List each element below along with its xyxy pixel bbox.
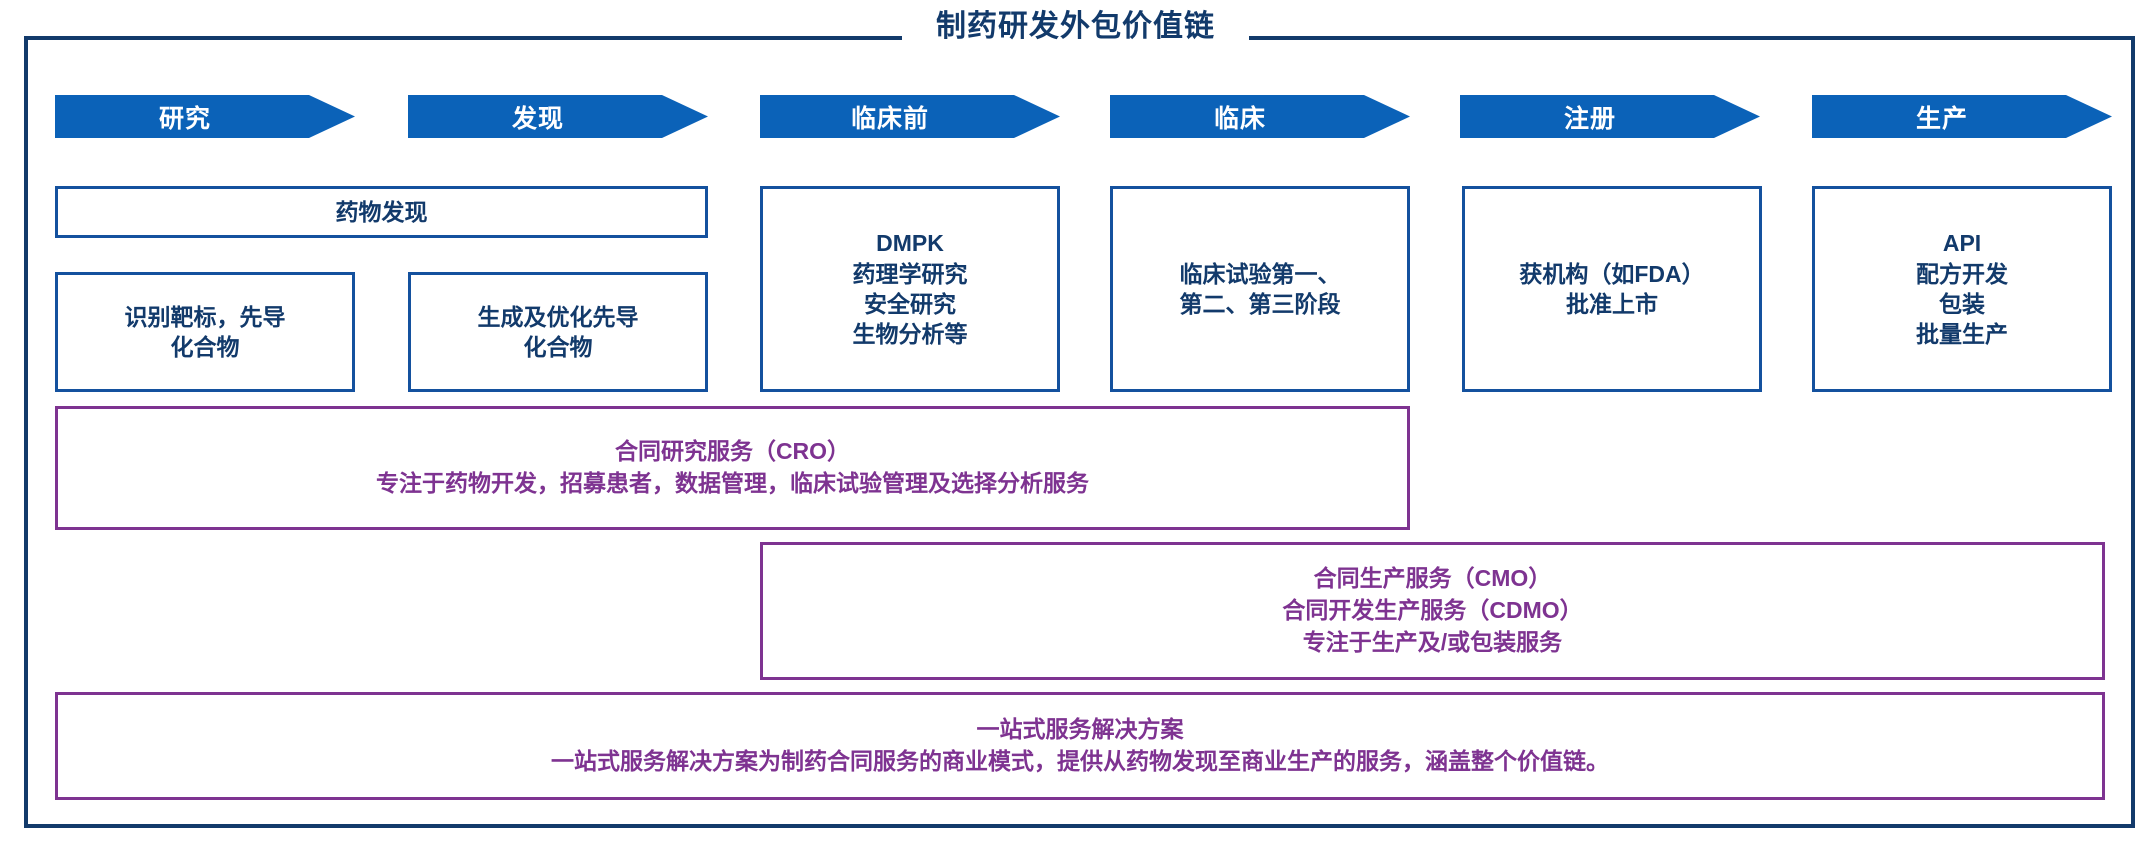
stage-arrow-label: 临床 xyxy=(1214,99,1266,135)
box-generate-optimize-lead: 生成及优化先导 化合物 xyxy=(408,272,708,392)
diagram-title-bar: 制药研发外包价值链 xyxy=(0,4,2151,50)
stage-arrow-preclinical[interactable]: 临床前 xyxy=(760,95,1060,138)
service-band-cro: 合同研究服务（CRO） 专注于药物开发，招募患者，数据管理，临床试验管理及选择分… xyxy=(55,406,1410,530)
box-drug-discovery: 药物发现 xyxy=(55,186,708,238)
stage-arrow-manufacturing[interactable]: 生产 xyxy=(1812,95,2112,138)
page-title: 制药研发外包价值链 xyxy=(902,4,1249,50)
stage-arrow-registration[interactable]: 注册 xyxy=(1460,95,1760,138)
box-text: 获机构（如FDA） 批准上市 xyxy=(1519,259,1704,320)
box-text: 识别靶标，先导 化合物 xyxy=(125,302,286,363)
service-band-one-stop: 一站式服务解决方案 一站式服务解决方案为制药合同服务的商业模式，提供从药物发现至… xyxy=(55,692,2105,800)
service-band-text: 合同生产服务（CMO） 合同开发生产服务（CDMO） 专注于生产及/或包装服务 xyxy=(1282,563,1582,658)
stage-arrow-discovery[interactable]: 发现 xyxy=(408,95,708,138)
box-text: 生成及优化先导 化合物 xyxy=(478,302,639,363)
box-text: 临床试验第一、 第二、第三阶段 xyxy=(1180,259,1341,320)
stage-arrow-label: 研究 xyxy=(159,99,211,135)
stage-arrow-label: 发现 xyxy=(512,99,564,135)
stage-arrow-label: 注册 xyxy=(1564,99,1616,135)
box-text: API 配方开发 包装 批量生产 xyxy=(1916,228,2008,349)
box-clinical-trials: 临床试验第一、 第二、第三阶段 xyxy=(1110,186,1410,392)
box-text: DMPK 药理学研究 安全研究 生物分析等 xyxy=(853,228,968,349)
stage-arrow-research[interactable]: 研究 xyxy=(55,95,355,138)
service-band-text: 合同研究服务（CRO） 专注于药物开发，招募患者，数据管理，临床试验管理及选择分… xyxy=(376,436,1089,499)
box-text: 药物发现 xyxy=(336,197,428,227)
stage-arrow-label: 临床前 xyxy=(851,99,929,135)
box-preclinical-services: DMPK 药理学研究 安全研究 生物分析等 xyxy=(760,186,1060,392)
stage-arrow-clinical[interactable]: 临床 xyxy=(1110,95,1410,138)
stage-arrow-label: 生产 xyxy=(1916,99,1968,135)
box-identify-target: 识别靶标，先导 化合物 xyxy=(55,272,355,392)
box-registration-approval: 获机构（如FDA） 批准上市 xyxy=(1462,186,1762,392)
service-band-cmo-cdmo: 合同生产服务（CMO） 合同开发生产服务（CDMO） 专注于生产及/或包装服务 xyxy=(760,542,2105,680)
service-band-text: 一站式服务解决方案 一站式服务解决方案为制药合同服务的商业模式，提供从药物发现至… xyxy=(551,714,1609,777)
box-manufacturing: API 配方开发 包装 批量生产 xyxy=(1812,186,2112,392)
diagram-canvas: 制药研发外包价值链 研究 发现 临床前 临床 注册 生产 药物发现 识别靶标，先… xyxy=(0,0,2151,844)
